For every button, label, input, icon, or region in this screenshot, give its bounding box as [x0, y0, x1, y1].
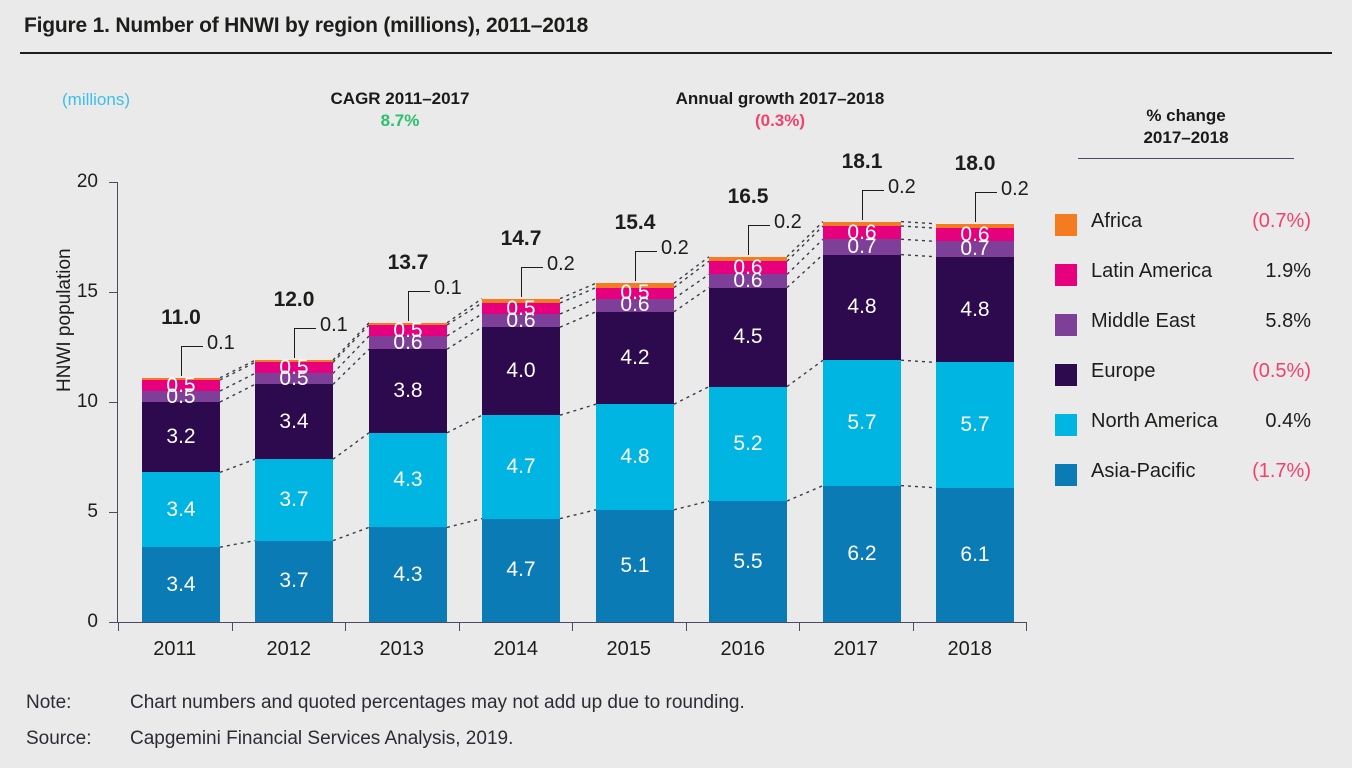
pct-change-divider [1078, 158, 1294, 159]
annual-growth-annotation: Annual growth 2017–2018 (0.3%) [630, 88, 930, 132]
bar-total-label: 16.5 [689, 185, 807, 209]
legend-label: Middle East [1091, 310, 1196, 333]
bar-segment[interactable] [142, 391, 220, 402]
bar-segment[interactable] [482, 299, 560, 303]
segment-connector [560, 299, 596, 314]
africa-callout-leader [294, 328, 295, 358]
footer-source-value: Capgemini Financial Services Analysis, 2… [130, 728, 513, 750]
legend-label: Asia-Pacific [1091, 460, 1195, 483]
legend-label: Africa [1091, 210, 1142, 233]
x-tick-mark [232, 622, 233, 631]
bar-segment[interactable] [596, 283, 674, 287]
segment-connector [447, 303, 482, 325]
bar-segment[interactable] [596, 510, 674, 622]
legend-item[interactable]: Africa(0.7%) [1055, 208, 1345, 258]
bar-segment[interactable] [936, 228, 1014, 241]
bar-segment[interactable] [823, 226, 901, 239]
bar-segment[interactable] [255, 459, 333, 540]
bar-segment[interactable] [255, 541, 333, 622]
segment-connector [674, 288, 709, 312]
cagr-label: CAGR 2011–2017 [331, 89, 470, 108]
legend-label: Europe [1091, 360, 1156, 383]
bar-segment[interactable] [369, 527, 447, 622]
footer-source-key: Source: [26, 728, 91, 750]
segment-connector [220, 360, 255, 378]
legend-label: North America [1091, 410, 1218, 433]
y-tick-label: 20 [58, 171, 98, 193]
legend-label: Latin America [1091, 260, 1212, 283]
africa-callout-leader-horizontal [294, 328, 316, 329]
africa-callout-value: 0.2 [774, 211, 802, 234]
bar-segment[interactable] [482, 415, 560, 518]
x-tick-mark [345, 622, 346, 631]
africa-callout-value: 0.1 [207, 332, 235, 355]
bar-segment[interactable] [255, 360, 333, 362]
africa-callout-leader-horizontal [975, 192, 997, 193]
segment-connector [787, 486, 823, 501]
x-tick-mark [459, 622, 460, 631]
bar-column[interactable] [255, 182, 333, 622]
bar-segment[interactable] [596, 299, 674, 312]
africa-callout-value: 0.1 [434, 277, 462, 300]
y-tick-mark [109, 182, 118, 183]
bar-total-label: 18.1 [803, 150, 921, 174]
segment-connector [447, 299, 482, 323]
x-tick-label: 2013 [345, 638, 459, 661]
bar-segment[interactable] [369, 323, 447, 325]
bar-total-label: 18.0 [916, 152, 1034, 176]
bar-segment[interactable] [709, 261, 787, 274]
africa-callout-leader [862, 190, 863, 220]
legend-item[interactable]: Middle East5.8% [1055, 308, 1345, 358]
y-tick-mark [109, 402, 118, 403]
x-tick-label: 2016 [686, 638, 800, 661]
y-tick-label: 15 [58, 281, 98, 303]
bar-column[interactable] [823, 182, 901, 622]
y-tick-mark [109, 622, 118, 623]
segment-connector [333, 433, 369, 459]
bar-total-label: 12.0 [235, 288, 353, 312]
x-tick-label: 2014 [459, 638, 573, 661]
bar-column[interactable] [936, 182, 1014, 622]
pct-change-line2: 2017–2018 [1143, 128, 1228, 147]
africa-callout-leader [635, 251, 636, 281]
y-tick-label: 5 [58, 501, 98, 523]
annual-growth-value: (0.3%) [630, 110, 930, 132]
segment-connector [220, 541, 255, 548]
africa-callout-value: 0.2 [661, 237, 689, 260]
africa-callout-leader [181, 346, 182, 376]
bar-segment[interactable] [596, 404, 674, 510]
pct-change-line1: % change [1146, 106, 1225, 125]
segment-connector [220, 373, 255, 391]
bar-segment[interactable] [936, 257, 1014, 363]
africa-callout-leader [408, 291, 409, 321]
legend-color-swatch [1055, 214, 1077, 236]
bar-segment[interactable] [255, 384, 333, 459]
x-tick-label: 2015 [572, 638, 686, 661]
x-tick-label: 2011 [118, 638, 232, 661]
x-tick-mark [913, 622, 914, 631]
africa-callout-leader-horizontal [635, 251, 657, 252]
title-divider [20, 52, 1332, 54]
bar-segment[interactable] [709, 288, 787, 387]
cagr-value: 8.7% [285, 110, 515, 132]
legend-color-swatch [1055, 264, 1077, 286]
legend-pct-change: (0.7%) [1252, 210, 1311, 233]
segment-connector [674, 274, 709, 298]
bar-segment[interactable] [369, 349, 447, 433]
segment-connector [901, 239, 936, 241]
bar-segment[interactable] [482, 519, 560, 622]
segment-connector [220, 362, 255, 380]
bar-segment[interactable] [369, 336, 447, 349]
pct-change-header: % change 2017–2018 [1078, 105, 1294, 149]
bar-segment[interactable] [823, 255, 901, 361]
x-tick-mark [1026, 622, 1027, 631]
bar-segment[interactable] [936, 241, 1014, 256]
segment-connector [674, 261, 709, 287]
bar-segment[interactable] [482, 327, 560, 415]
y-tick-mark [109, 512, 118, 513]
segment-connector [901, 486, 936, 488]
segment-connector [560, 283, 596, 298]
segment-connector [560, 510, 596, 519]
africa-callout-value: 0.2 [547, 253, 575, 276]
bar-segment[interactable] [823, 360, 901, 485]
legend-pct-change: 5.8% [1265, 310, 1311, 333]
segment-connector [901, 360, 936, 362]
page-title: Figure 1. Number of HNWI by region (mill… [24, 14, 588, 38]
x-tick-label: 2018 [913, 638, 1027, 661]
bar-segment[interactable] [142, 547, 220, 622]
bar-segment[interactable] [936, 488, 1014, 622]
legend-color-swatch [1055, 314, 1077, 336]
africa-callout-leader [748, 225, 749, 255]
bar-segment[interactable] [596, 312, 674, 404]
bar-column[interactable] [369, 182, 447, 622]
bar-total-label: 11.0 [122, 306, 240, 330]
segment-connector [333, 527, 369, 540]
segment-connector [674, 501, 709, 510]
bar-segment[interactable] [255, 362, 333, 373]
bar-segment[interactable] [369, 325, 447, 336]
africa-callout-leader-horizontal [408, 291, 430, 292]
footer-note-value: Chart numbers and quoted percentages may… [130, 692, 745, 714]
segment-connector [447, 314, 482, 336]
legend-pct-change: (0.5%) [1252, 360, 1311, 383]
africa-callout-value: 0.2 [888, 176, 916, 199]
africa-callout-leader-horizontal [862, 190, 884, 191]
segment-connector [901, 255, 936, 257]
bar-segment[interactable] [823, 486, 901, 622]
bar-column[interactable] [142, 182, 220, 622]
bar-segment[interactable] [142, 378, 220, 380]
segment-connector [901, 226, 936, 228]
bar-segment[interactable] [823, 239, 901, 254]
africa-callout-leader [975, 192, 976, 222]
x-tick-label: 2012 [232, 638, 346, 661]
segment-connector [447, 415, 482, 433]
bar-segment[interactable] [936, 224, 1014, 228]
bar-segment[interactable] [709, 257, 787, 261]
africa-callout-leader-horizontal [181, 346, 203, 347]
legend-item[interactable]: Europe(0.5%) [1055, 358, 1345, 408]
bar-segment[interactable] [823, 222, 901, 226]
legend-color-swatch [1055, 364, 1077, 386]
legend: Africa(0.7%)Latin America1.9%Middle East… [1055, 208, 1345, 508]
bar-total-label: 15.4 [576, 211, 694, 235]
cagr-annotation: CAGR 2011–2017 8.7% [285, 88, 515, 132]
bar-segment[interactable] [482, 303, 560, 314]
segment-connector [560, 288, 596, 303]
segment-connector [787, 239, 823, 274]
bar-total-label: 14.7 [462, 227, 580, 251]
legend-item[interactable]: Asia-Pacific(1.7%) [1055, 458, 1345, 508]
segment-connector [787, 255, 823, 288]
y-tick-label: 10 [58, 391, 98, 413]
units-label: (millions) [62, 90, 130, 110]
bar-segment[interactable] [709, 501, 787, 622]
segment-connector [787, 360, 823, 386]
africa-callout-leader-horizontal [521, 267, 543, 268]
x-tick-mark [572, 622, 573, 631]
bar-segment[interactable] [142, 402, 220, 472]
africa-callout-leader-horizontal [748, 225, 770, 226]
x-tick-mark [118, 622, 119, 631]
bar-segment[interactable] [142, 380, 220, 391]
bar-segment[interactable] [596, 288, 674, 299]
y-tick-mark [109, 292, 118, 293]
segment-connector [901, 222, 936, 224]
bar-segment[interactable] [936, 362, 1014, 487]
legend-pct-change: 0.4% [1265, 410, 1311, 433]
segment-connector [674, 387, 709, 405]
segment-connector [447, 327, 482, 349]
bar-segment[interactable] [709, 387, 787, 501]
y-tick-label: 0 [58, 611, 98, 633]
legend-pct-change: 1.9% [1265, 260, 1311, 283]
segment-connector [447, 519, 482, 528]
y-axis-title: HNWI population [54, 248, 76, 392]
bar-segment[interactable] [255, 373, 333, 384]
segment-connector [220, 459, 255, 472]
bar-segment[interactable] [709, 274, 787, 287]
chart-plot-area: HNWI population 05101520 201120122013201… [118, 182, 1026, 622]
x-tick-mark [686, 622, 687, 631]
bar-segment[interactable] [142, 472, 220, 547]
africa-callout-value: 0.1 [320, 314, 348, 337]
segment-connector [333, 336, 369, 373]
legend-pct-change: (1.7%) [1252, 460, 1311, 483]
africa-callout-leader [521, 267, 522, 297]
legend-item[interactable]: North America0.4% [1055, 408, 1345, 458]
segment-connector [220, 384, 255, 402]
x-tick-label: 2017 [799, 638, 913, 661]
segment-connector [560, 312, 596, 327]
x-tick-mark [799, 622, 800, 631]
legend-color-swatch [1055, 464, 1077, 486]
bar-segment[interactable] [369, 433, 447, 528]
segment-connector [333, 349, 369, 384]
bar-segment[interactable] [482, 314, 560, 327]
legend-color-swatch [1055, 414, 1077, 436]
annual-growth-label: Annual growth 2017–2018 [676, 89, 885, 108]
footer-note-key: Note: [26, 692, 71, 714]
segment-connector [560, 404, 596, 415]
segment-connector [674, 257, 709, 283]
africa-callout-value: 0.2 [1001, 178, 1029, 201]
legend-item[interactable]: Latin America1.9% [1055, 258, 1345, 308]
bar-total-label: 13.7 [349, 251, 467, 275]
